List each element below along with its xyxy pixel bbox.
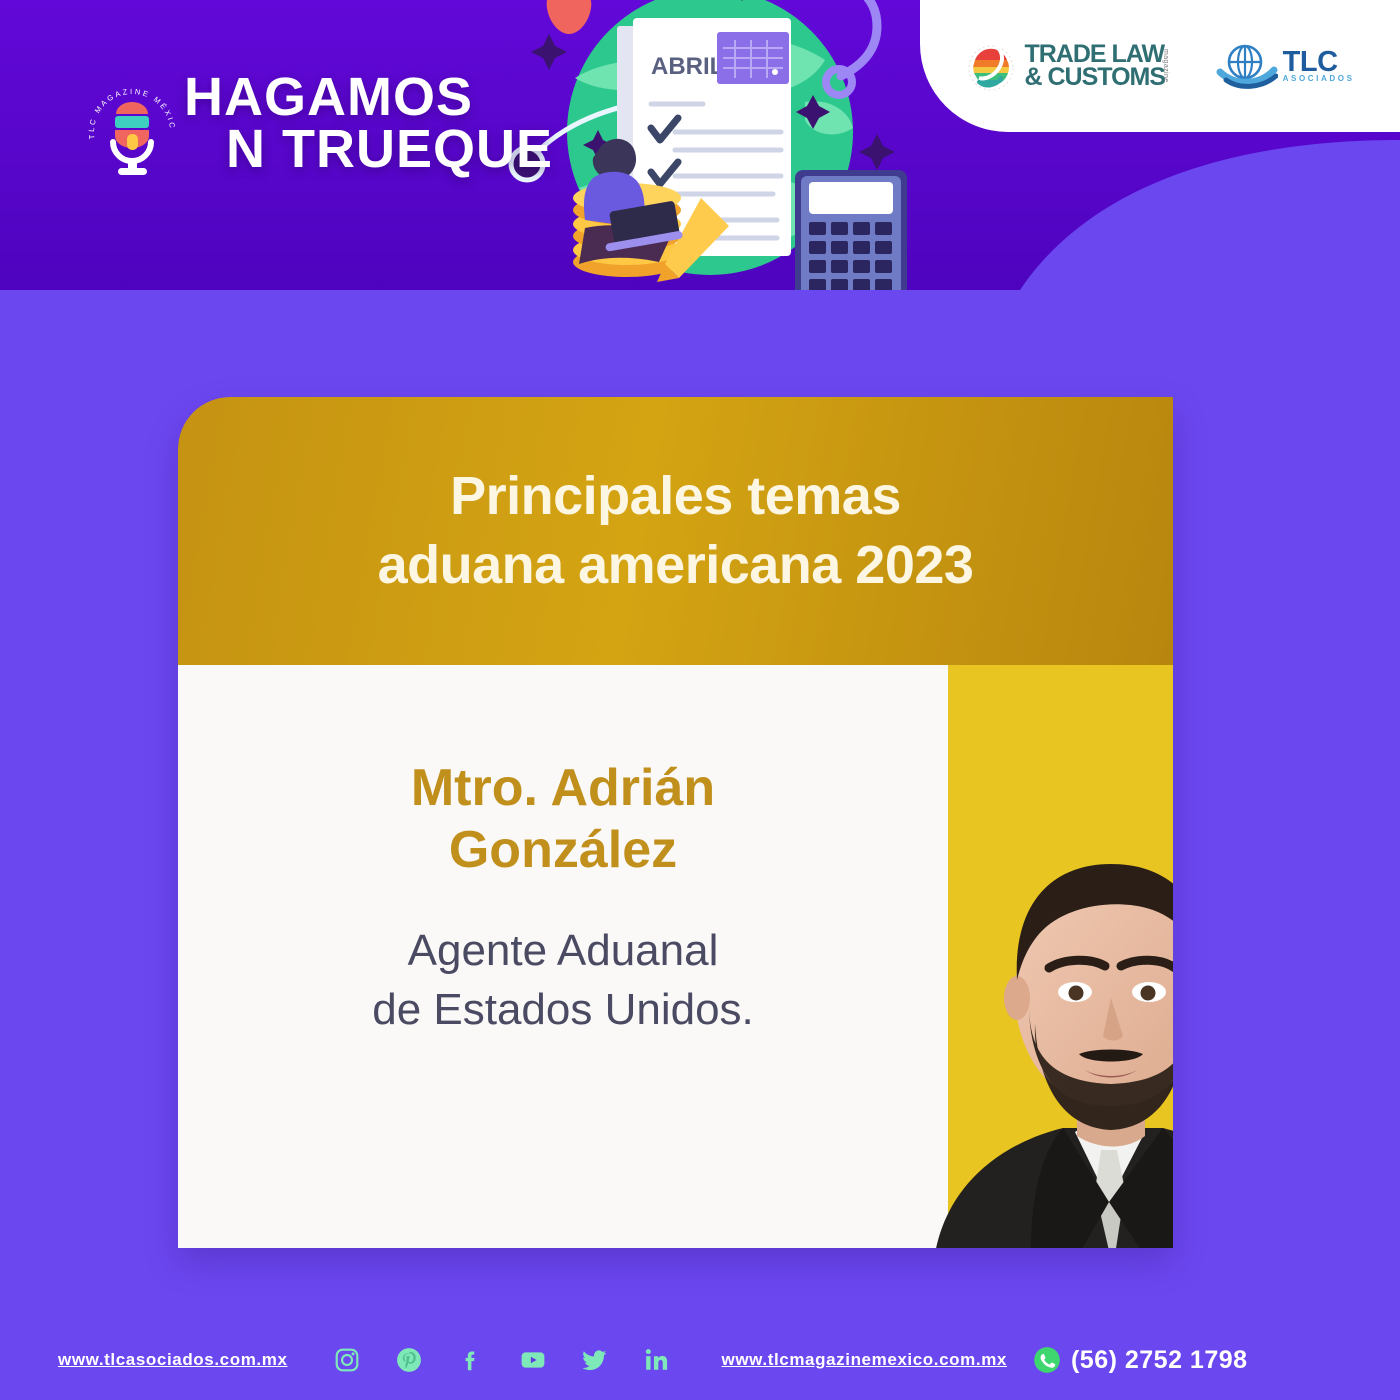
speaker-role: Agente Aduanal de Estados Unidos.	[372, 922, 754, 1040]
card-title-line-2: aduana americana 2023	[378, 531, 974, 600]
instagram-icon[interactable]	[334, 1347, 360, 1373]
whatsapp-icon[interactable]	[1033, 1346, 1061, 1374]
trade-law-superscript: magazine	[1162, 49, 1168, 83]
speaker-name: Mtro. Adrián González	[411, 757, 715, 882]
card-title-line-1: Principales temas	[378, 462, 974, 531]
twitter-icon[interactable]	[582, 1347, 608, 1373]
whatsapp-contact[interactable]: (56) 2752 1798	[1033, 1346, 1248, 1375]
card-body: Mtro. Adrián González Agente Aduanal de …	[178, 665, 1173, 1248]
hagamos-un-trueque-logo: TLC MAGAZINE MÉXICO HAGAMOS N TRUEQUE	[86, 72, 553, 176]
footer-bar: www.tlcasociados.com.mx www.tlcmagazine	[0, 1320, 1400, 1400]
social-links	[334, 1347, 670, 1373]
header-banner: ABRIL	[0, 0, 1400, 290]
rainbow-globe-icon	[965, 38, 1017, 94]
speaker-name-line-2: González	[411, 819, 715, 881]
linkedin-icon[interactable]	[644, 1347, 670, 1373]
tlc-asociados-logo: TLC ASOCIADOS	[1216, 38, 1355, 94]
globe-swoosh-icon	[1216, 38, 1278, 94]
tlc-line-1: TLC	[1283, 49, 1355, 75]
trade-law-line-2: & CUSTOMS	[1024, 66, 1197, 89]
speaker-info: Mtro. Adrián González Agente Aduanal de …	[178, 665, 948, 1248]
footer-link-tlcmagazine[interactable]: www.tlcmagazinemexico.com.mx	[722, 1350, 1007, 1370]
logo-line-2: N TRUEQUE	[184, 124, 553, 176]
youtube-icon[interactable]	[520, 1347, 546, 1373]
speaker-role-line-1: Agente Aduanal	[372, 922, 754, 981]
speaker-name-line-1: Mtro. Adrián	[411, 757, 715, 819]
speaker-portrait	[913, 798, 1173, 1248]
document-month-label: ABRIL	[651, 53, 724, 80]
microphone-icon: TLC MAGAZINE MÉXICO	[86, 72, 178, 176]
phone-number: (56) 2752 1798	[1071, 1346, 1248, 1375]
brand-logos-badge: TRADE LAW magazine & CUSTOMS TLC ASOCIAD…	[920, 0, 1400, 132]
pinterest-icon[interactable]	[396, 1347, 422, 1373]
card-title: Principales temas aduana americana 2023	[378, 462, 974, 600]
card-header: Principales temas aduana americana 2023	[178, 397, 1173, 665]
logo-wordmark: HAGAMOS N TRUEQUE	[184, 72, 553, 176]
logo-line-1: HAGAMOS	[184, 72, 553, 124]
event-card: Principales temas aduana americana 2023 …	[178, 397, 1173, 1248]
trade-law-customs-logo: TRADE LAW magazine & CUSTOMS	[965, 38, 1197, 94]
facebook-icon[interactable]	[458, 1347, 484, 1373]
finance-globe-illustration: ABRIL	[505, 0, 925, 290]
speaker-role-line-2: de Estados Unidos.	[372, 981, 754, 1040]
footer-link-tlcasociados[interactable]: www.tlcasociados.com.mx	[58, 1350, 288, 1370]
tlc-line-2: ASOCIADOS	[1283, 75, 1355, 82]
